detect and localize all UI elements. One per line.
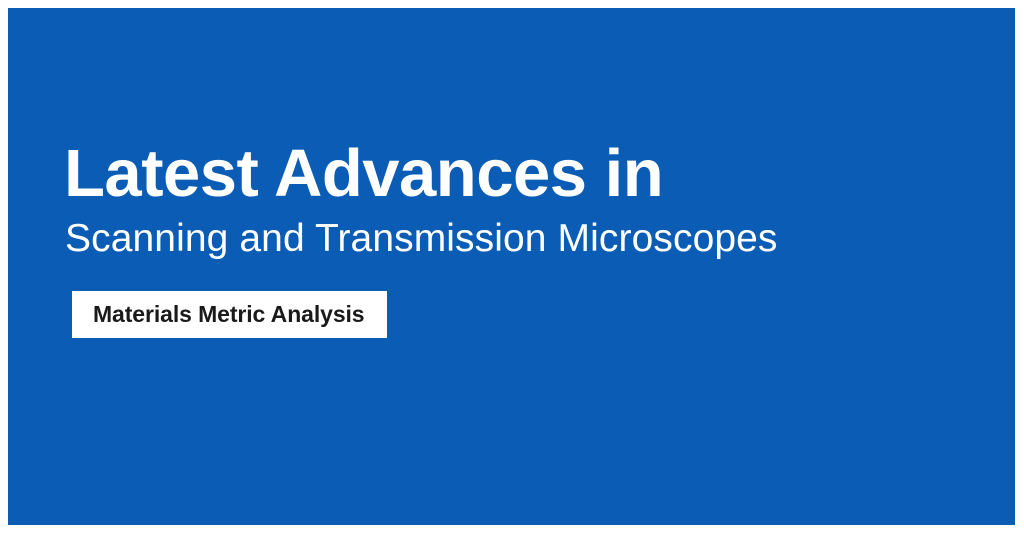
banner-subheadline: Scanning and Transmission Microscopes: [65, 219, 778, 258]
banner-root: Latest Advances in Scanning and Transmis…: [0, 0, 1024, 538]
category-badge-label: Materials Metric Analysis: [93, 303, 365, 326]
category-badge: Materials Metric Analysis: [72, 291, 387, 338]
banner-headline: Latest Advances in: [64, 140, 663, 207]
banner-blue-panel: Latest Advances in Scanning and Transmis…: [8, 8, 1015, 525]
banner-content: Latest Advances in Scanning and Transmis…: [64, 8, 994, 525]
